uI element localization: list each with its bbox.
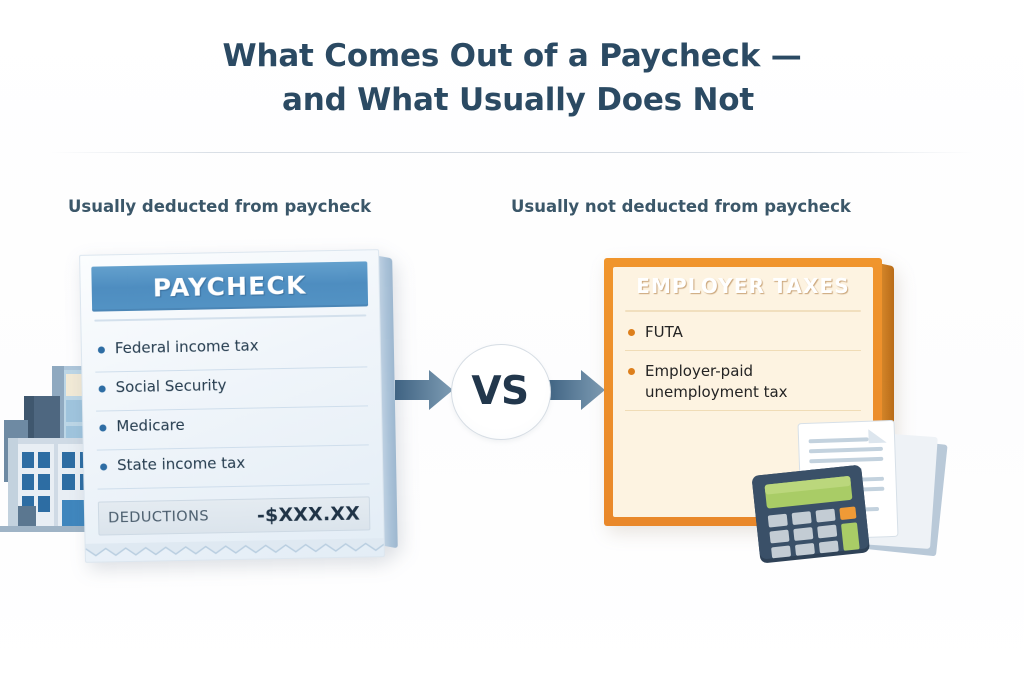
perforated-edge-icon xyxy=(86,538,385,562)
paycheck-item-label: Federal income tax xyxy=(115,336,259,357)
deductions-label: DEDUCTIONS xyxy=(108,508,209,526)
deductions-amount: -$XXX.XX xyxy=(257,503,361,527)
paycheck-card-header-label: PAYCHECK xyxy=(153,271,307,303)
infographic-canvas: What Comes Out of a Paycheck — and What … xyxy=(0,0,1024,683)
paycheck-item-label: State income tax xyxy=(117,454,245,474)
list-item: Federal income tax xyxy=(95,328,368,372)
calculator-documents-illustration xyxy=(742,412,954,572)
employer-item-label: FUTA xyxy=(645,323,683,341)
deductions-row: DEDUCTIONS -$XXX.XX xyxy=(98,496,371,535)
title-line-1: What Comes Out of a Paycheck — xyxy=(0,34,1024,78)
list-item: FUTA xyxy=(625,322,861,351)
left-column-subhead: Usually deducted from paycheck xyxy=(68,197,371,216)
paycheck-deduction-list: Federal income tax Social Security Medic… xyxy=(95,328,370,489)
list-item: Employer-paid unemployment tax xyxy=(625,361,861,411)
list-item: State income tax xyxy=(97,445,370,489)
paycheck-card: PAYCHECK Federal income tax Social Secur… xyxy=(79,249,385,563)
employer-tax-list: FUTA Employer-paid unemployment tax xyxy=(625,322,861,411)
list-item: Medicare xyxy=(96,406,369,450)
paycheck-top-rule xyxy=(94,314,366,321)
page-title: What Comes Out of a Paycheck — and What … xyxy=(0,34,1024,122)
paycheck-item-label: Social Security xyxy=(115,376,226,396)
title-line-2: and What Usually Does Not xyxy=(6,78,1024,122)
comparator-vs: VS xyxy=(395,342,605,442)
list-item: Social Security xyxy=(95,367,368,411)
comparator-label: VS xyxy=(451,344,549,438)
calculator-icon xyxy=(751,465,870,564)
employer-top-rule xyxy=(625,310,861,312)
paycheck-card-header: PAYCHECK xyxy=(91,261,368,311)
employer-card-header-label: EMPLOYER TAXES xyxy=(636,274,850,298)
header-divider xyxy=(48,152,976,153)
employer-item-label: Employer-paid unemployment tax xyxy=(645,362,788,401)
paycheck-item-label: Medicare xyxy=(116,416,185,435)
right-column-subhead: Usually not deducted from paycheck xyxy=(511,197,851,216)
employer-card-title-bar: EMPLOYER TAXES xyxy=(613,266,873,306)
